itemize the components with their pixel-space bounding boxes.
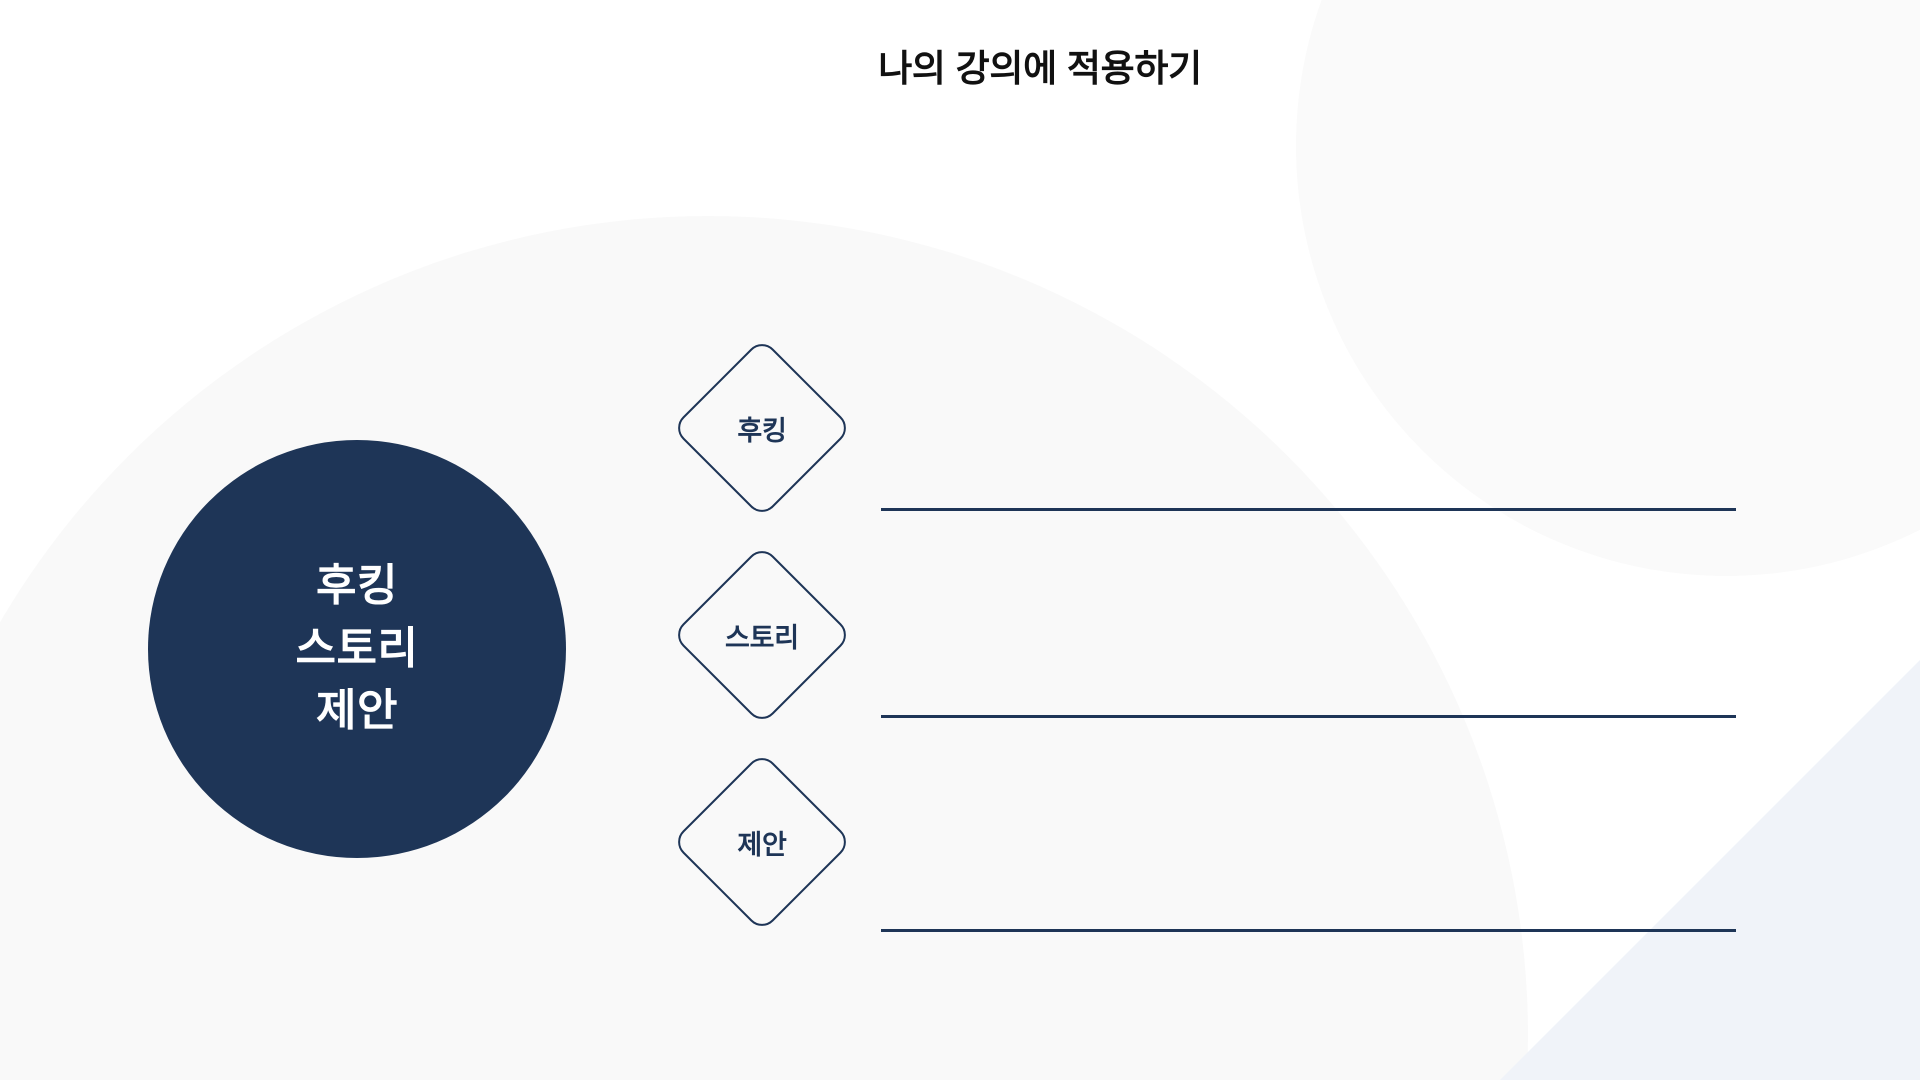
slide-canvas: 나의 강의에 적용하기 후킹 스토리 제안 후킹 스토리 제안 (0, 0, 1920, 1080)
write-in-line-story[interactable] (881, 715, 1736, 718)
decor-bottom-right-wedge (1500, 660, 1920, 1080)
step-diamond-hooking[interactable]: 후킹 (672, 338, 852, 518)
main-circle-line-1: 후킹 (316, 555, 398, 617)
step-diamond-label: 스토리 (725, 616, 799, 655)
page-title: 나의 강의에 적용하기 (0, 38, 1920, 92)
step-diamond-story[interactable]: 스토리 (672, 545, 852, 725)
main-concept-circle: 후킹 스토리 제안 (148, 440, 566, 858)
step-diamond-label: 제안 (737, 823, 786, 862)
step-diamond-column: 후킹 스토리 제안 (672, 338, 882, 968)
step-diamond-label: 후킹 (737, 409, 786, 448)
main-circle-line-3: 제안 (316, 680, 398, 742)
write-in-line-proposal[interactable] (881, 929, 1736, 932)
write-in-line-hooking[interactable] (881, 508, 1736, 511)
main-circle-line-2: 스토리 (296, 618, 419, 680)
step-diamond-proposal[interactable]: 제안 (672, 752, 852, 932)
